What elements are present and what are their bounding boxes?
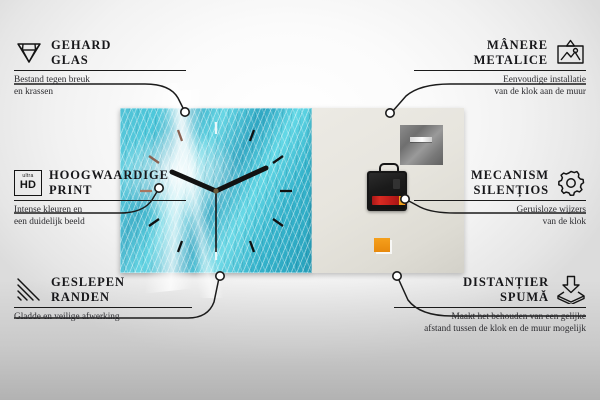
diamond-icon [14,39,44,66]
feature-title: MECANISM SILENȚIOS [471,168,549,198]
ultra-hd-icon: ultra HD [14,170,42,196]
feature-rule [394,307,586,308]
ultra-hd-large-text: HD [20,180,36,191]
feature-rule [14,70,186,71]
feature-title-line1: MÂNERE [474,38,548,53]
feature-title: MÂNERE METALICE [474,38,548,68]
feature-title-line2: SPUMĂ [463,290,549,305]
feature-title: GESLEPEN RANDEN [51,275,125,305]
feature-desc-line1: Eenvoudige installatie [406,74,586,87]
feature-mecanism-silentios: MECANISM SILENȚIOS Geruisloze wijzers va… [406,168,586,229]
feature-title: DISTANȚIER SPUMĂ [463,275,549,305]
infographic-canvas: GEHARD GLAS Bestand tegen breuk en krass… [0,0,600,400]
picture-frame-icon [555,39,586,66]
feature-description: Gladde en veilige afwerking [14,311,199,324]
feature-description: Geruisloze wijzers van de klok [406,204,586,229]
feature-rule [414,200,586,201]
spacer-press-icon [556,275,586,304]
feature-header: GESLEPEN RANDEN [14,275,199,305]
gear-icon [556,169,586,197]
feature-desc-line1: Maakt het behouden van een gelijke [386,311,586,324]
feature-description: Maakt het behouden van een gelijke afsta… [386,311,586,336]
feature-title-line1: MECANISM [471,168,549,183]
feature-desc-line2: van de klok aan de muur [406,86,586,99]
feature-rule [14,200,186,201]
feature-title: HOOGWAARDIGE PRINT [49,168,169,198]
feature-rule [414,70,586,71]
feature-description: Intense kleuren en een duidelijk beeld [14,204,194,229]
feature-desc-line2: afstand tussen de klok en de muur mogeli… [386,323,586,336]
feature-title-line1: HOOGWAARDIGE [49,168,169,183]
endpoint-gehard-glas [181,108,189,116]
feature-title-line2: SILENȚIOS [471,183,549,198]
feature-description: Bestand tegen breuk en krassen [14,74,194,99]
feature-desc-line1: Bestand tegen breuk [14,74,194,87]
feature-title-line2: METALICE [474,53,548,68]
feature-rule [14,307,192,308]
feature-header: ultra HD HOOGWAARDIGE PRINT [14,168,194,198]
feature-desc-line1: Gladde en veilige afwerking [14,311,199,324]
feature-title-line2: PRINT [49,183,169,198]
feature-desc-line1: Intense kleuren en [14,204,194,217]
feature-desc-line2: een duidelijk beeld [14,216,194,229]
feature-title-line1: GESLEPEN [51,275,125,290]
feature-header: GEHARD GLAS [14,38,194,68]
feature-title-line1: GEHARD [51,38,111,53]
feature-header: MECANISM SILENȚIOS [406,168,586,198]
feature-desc-line1: Geruisloze wijzers [406,204,586,217]
feature-geslepen-randen: GESLEPEN RANDEN Gladde en veilige afwerk… [14,275,199,323]
feature-title: GEHARD GLAS [51,38,111,68]
feature-manere-metalice: MÂNERE METALICE Eenvoudige installatie v… [406,38,586,99]
feature-desc-line2: en krassen [14,86,194,99]
endpoint-manere-metalice [386,109,394,117]
endpoint-geslepen-randen [216,272,224,280]
feature-title-line2: GLAS [51,53,111,68]
feature-desc-line2: van de klok [406,216,586,229]
feature-title-line1: DISTANȚIER [463,275,549,290]
feature-gehard-glas: GEHARD GLAS Bestand tegen breuk en krass… [14,38,194,99]
feature-header: DISTANȚIER SPUMĂ [386,275,586,305]
feature-title-line2: RANDEN [51,290,125,305]
feature-header: MÂNERE METALICE [406,38,586,68]
beveled-edges-icon [14,276,44,303]
feature-hoogwaardige-print: ultra HD HOOGWAARDIGE PRINT Intense kleu… [14,168,194,229]
feature-distantier-spuma: DISTANȚIER SPUMĂ Maakt het behouden van … [386,275,586,336]
feature-description: Eenvoudige installatie van de klok aan d… [406,74,586,99]
